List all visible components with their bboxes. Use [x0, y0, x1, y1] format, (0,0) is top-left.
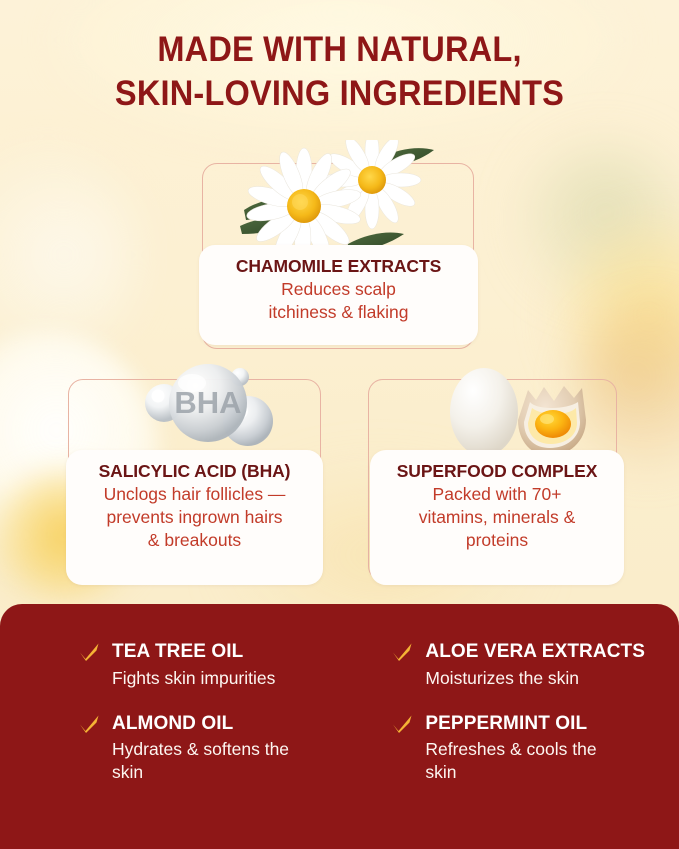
benefits-grid: TEA TREE OIL Fights skin impurities ALOE… — [34, 640, 645, 784]
benefit-title: ALMOND OIL — [112, 712, 317, 736]
ingredient-title: SUPERFOOD COMPLEX — [378, 460, 616, 482]
benefit-desc: Moisturizes the skin — [425, 667, 630, 690]
benefit-item-almond-oil: ALMOND OIL Hydrates & softens the skin — [34, 712, 329, 784]
benefits-panel: TEA TREE OIL Fights skin impurities ALOE… — [0, 604, 679, 849]
ingredient-panel-superfood-complex: SUPERFOOD COMPLEX Packed with 70+ vitami… — [370, 450, 624, 585]
benefit-desc: Refreshes & cools the skin — [425, 738, 630, 784]
check-icon — [78, 714, 100, 740]
check-icon — [78, 642, 100, 668]
ingredient-desc-line: Packed with 70+ — [378, 483, 616, 506]
check-icon — [391, 714, 413, 740]
ingredient-desc-line: Reduces scalp — [207, 278, 470, 301]
benefit-title: ALOE VERA EXTRACTS — [425, 640, 645, 664]
page-title: MADE WITH NATURAL, SKIN-LOVING INGREDIEN… — [24, 28, 655, 116]
benefit-title: PEPPERMINT OIL — [425, 712, 630, 736]
ingredient-panel-salicylic-acid: SALICYLIC ACID (BHA) Unclogs hair follic… — [66, 450, 323, 585]
ingredient-desc-line: itchiness & flaking — [207, 301, 470, 324]
check-icon — [391, 642, 413, 668]
ingredient-desc-line: & breakouts — [74, 529, 315, 552]
ingredient-desc-line: proteins — [378, 529, 616, 552]
benefit-desc: Fights skin impurities — [112, 667, 275, 690]
benefit-item-peppermint-oil: PEPPERMINT OIL Refreshes & cools the ski… — [347, 712, 645, 784]
background-blob-petal-topleft — [0, 150, 140, 360]
ingredient-panel-chamomile: CHAMOMILE EXTRACTS Reduces scalp itchine… — [199, 245, 478, 345]
benefit-item-tea-tree-oil: TEA TREE OIL Fights skin impurities — [34, 640, 329, 690]
ingredient-desc-line: vitamins, minerals & — [378, 506, 616, 529]
ingredient-title: CHAMOMILE EXTRACTS — [207, 255, 470, 277]
benefit-desc: Hydrates & softens the skin — [112, 738, 317, 784]
ingredient-desc-line: prevents ingrown hairs — [74, 506, 315, 529]
benefit-item-aloe-vera-extracts: ALOE VERA EXTRACTS Moisturizes the skin — [347, 640, 645, 690]
benefit-title: TEA TREE OIL — [112, 640, 275, 664]
page-title-line-2: SKIN-LOVING INGREDIENTS — [24, 72, 655, 116]
page-title-line-1: MADE WITH NATURAL, — [24, 28, 655, 72]
ingredient-desc-line: Unclogs hair follicles — — [74, 483, 315, 506]
ingredient-title: SALICYLIC ACID (BHA) — [74, 460, 315, 482]
